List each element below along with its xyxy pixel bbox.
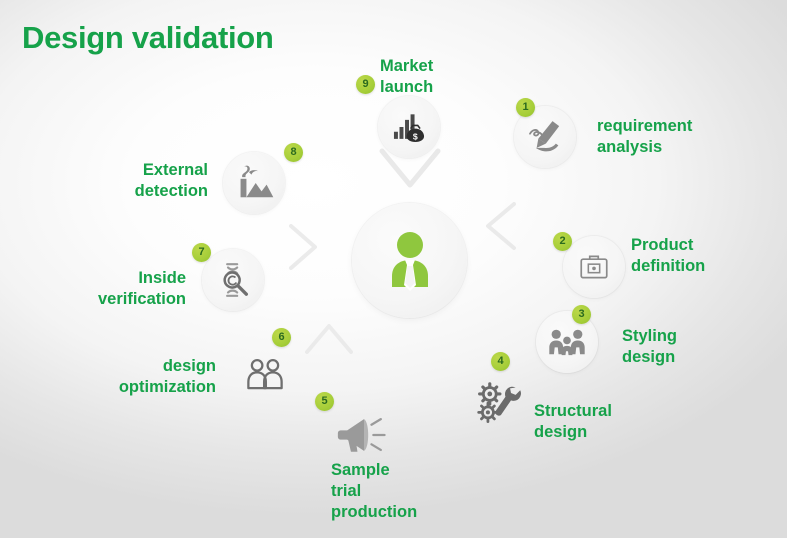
- icon-circle: [333, 404, 395, 466]
- icon-circle: $: [378, 96, 440, 158]
- chart-moneybag-icon: $: [390, 108, 428, 146]
- group-of-people-icon: [547, 322, 587, 362]
- node-label-8: External detection: [88, 160, 208, 202]
- badge-5: 5: [315, 392, 334, 411]
- arrow-left-to-center: [480, 200, 522, 252]
- badge-9: 9: [356, 75, 375, 94]
- node-label-4: Structural design: [534, 401, 612, 443]
- magnifier-dna-icon: [213, 260, 253, 300]
- badge-6: 6: [272, 328, 291, 347]
- megaphone-icon: [336, 411, 392, 459]
- node-label-9: Market launch: [380, 56, 433, 98]
- svg-text:$: $: [413, 132, 418, 142]
- arrow-right-to-center: [285, 222, 325, 272]
- icon-circle: [202, 249, 264, 311]
- briefcase-icon: [577, 250, 611, 284]
- businessman-icon: [378, 229, 442, 293]
- page-title: Design validation: [22, 20, 274, 56]
- node-label-7: Inside verification: [46, 268, 186, 310]
- node-label-5: Sample trial production: [331, 460, 417, 523]
- hand-writing-pen-icon: [525, 117, 565, 157]
- two-people-icon: [244, 354, 286, 396]
- center-node[interactable]: [352, 203, 467, 318]
- node-label-6: design optimization: [86, 356, 216, 398]
- node-label-1: requirement analysis: [597, 116, 692, 158]
- badge-2: 2: [553, 232, 572, 251]
- node-label-3: Styling design: [622, 326, 677, 368]
- node-label-2: Product definition: [631, 235, 705, 277]
- badge-1: 1: [516, 98, 535, 117]
- factory-icon: [233, 163, 275, 203]
- icon-circle: [223, 152, 285, 214]
- icon-circle: [563, 236, 625, 298]
- badge-7: 7: [192, 243, 211, 262]
- icon-circle: [468, 374, 530, 436]
- diagram-canvas: Design validation 1: [0, 0, 787, 538]
- gears-wrench-icon: [475, 381, 523, 429]
- badge-3: 3: [572, 305, 591, 324]
- arrow-up-to-center: [303, 318, 355, 358]
- badge-4: 4: [491, 352, 510, 371]
- badge-8: 8: [284, 143, 303, 162]
- icon-circle: [234, 344, 296, 406]
